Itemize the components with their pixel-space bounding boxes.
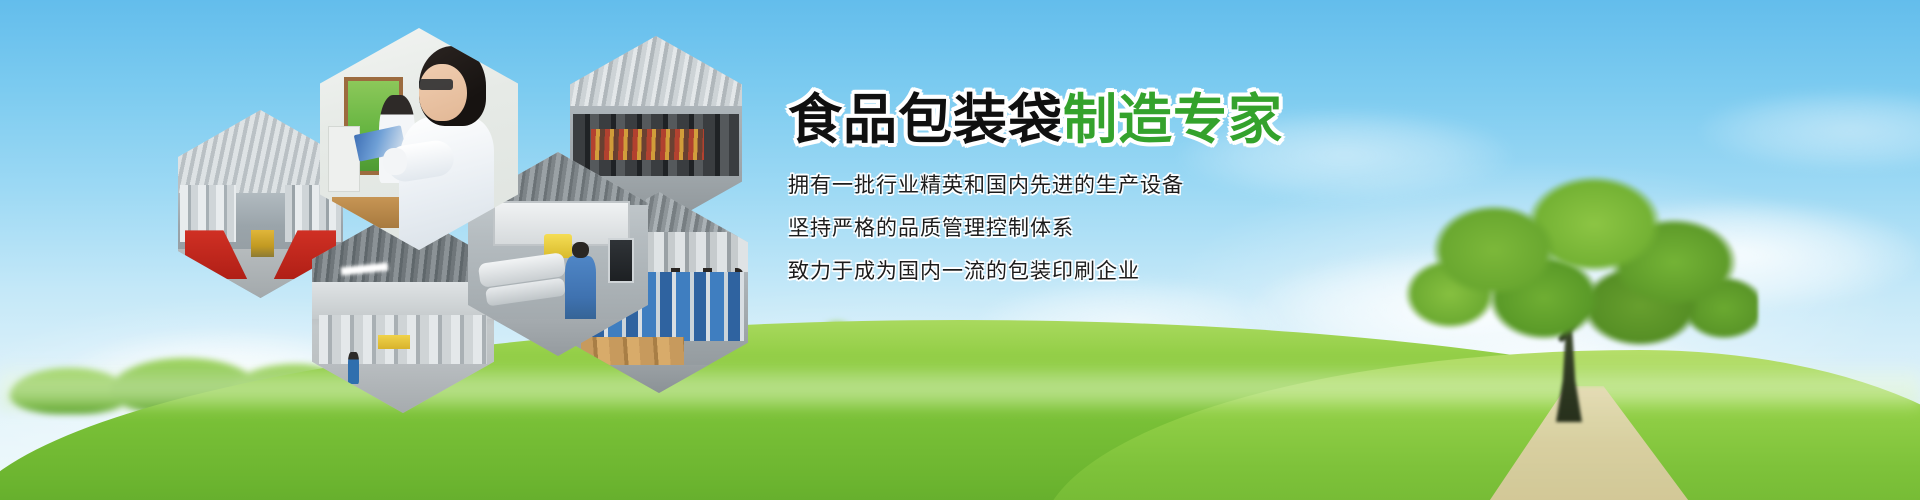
subline-1: 拥有一批行业精英和国内先进的生产设备 [788, 175, 1488, 196]
headline-primary: 食品包装袋 [788, 90, 1063, 150]
banner-copy: 食品包装袋制造专家 拥有一批行业精英和国内先进的生产设备 坚持严格的品质管理控制… [788, 92, 1488, 282]
hexagon-photo-cluster [0, 0, 800, 380]
subline-3: 致力于成为国内一流的包装印刷企业 [788, 261, 1488, 282]
headline-accent: 制造专家 [1063, 90, 1283, 150]
promo-banner: 食品包装袋制造专家 拥有一批行业精英和国内先进的生产设备 坚持严格的品质管理控制… [0, 0, 1920, 500]
headline: 食品包装袋制造专家 [788, 92, 1488, 149]
subline-2: 坚持严格的品质管理控制体系 [788, 218, 1488, 239]
